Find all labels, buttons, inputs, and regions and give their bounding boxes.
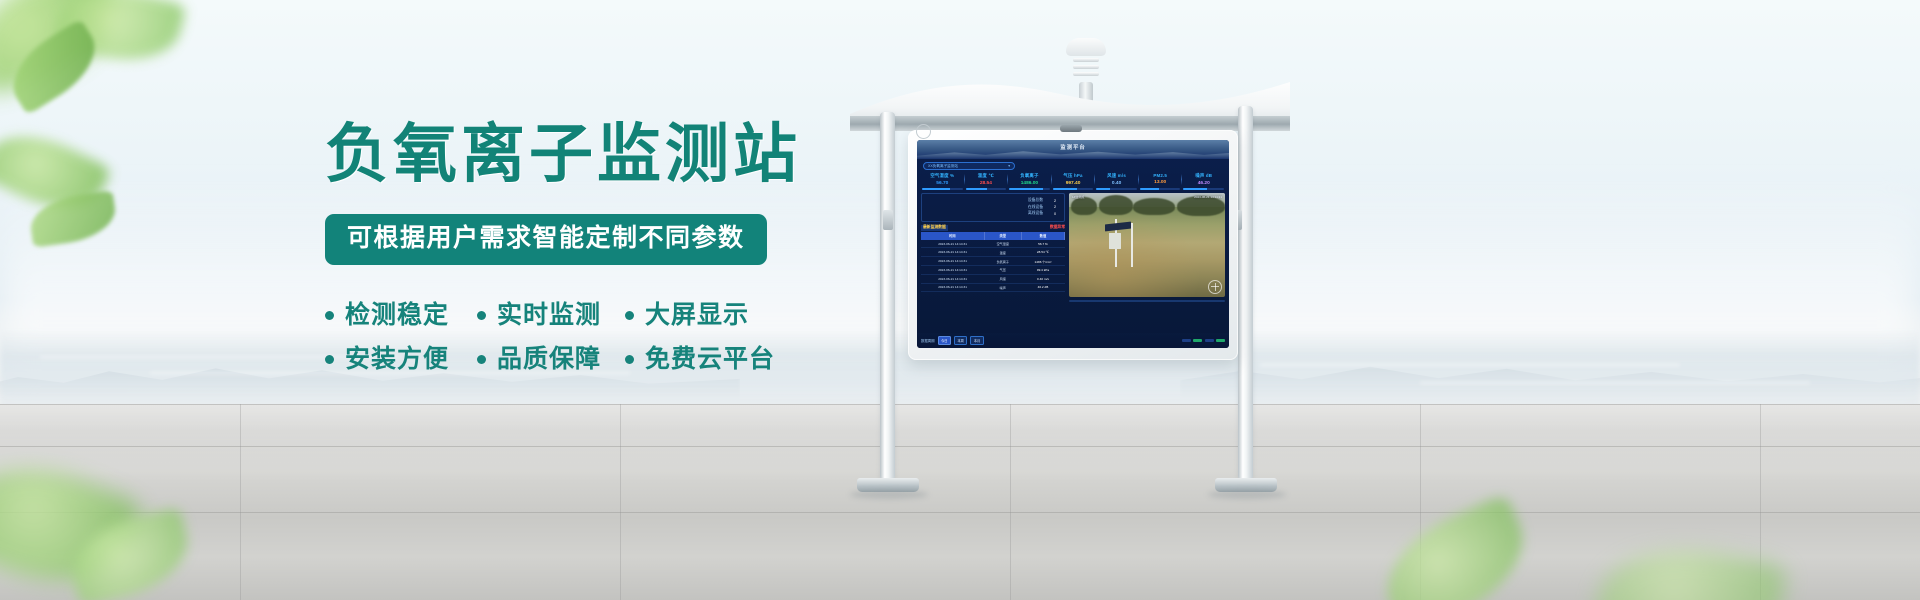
- support-post-right: [1238, 106, 1253, 480]
- log-table-columns: 时间类型数值: [921, 232, 1065, 240]
- bullet-dot-icon: [325, 311, 334, 320]
- bullet-dot-icon: [625, 355, 634, 364]
- table-cell: 噪声: [984, 283, 1021, 292]
- metric-value: 0.40: [1095, 181, 1138, 186]
- metric-card: 风速 m/s0.40: [1095, 173, 1138, 186]
- metric-label: PM2.5: [1139, 173, 1182, 178]
- dashboard-header: 监测平台: [917, 140, 1229, 159]
- table-row[interactable]: 2023-06-21 14:14:31负氧离子1486 个/cm³: [921, 257, 1065, 266]
- metric-progress-bar: [1053, 188, 1094, 190]
- table-cell: 2023-06-21 14:14:31: [921, 266, 984, 275]
- log-table-title: 最新监测数据: [921, 225, 948, 231]
- device-stat-value: 2: [1051, 205, 1059, 209]
- log-table-header-row: 最新监测数据 数据异常: [921, 225, 1065, 231]
- table-cell: 负氧离子: [984, 257, 1021, 266]
- table-row[interactable]: 2023-06-21 14:14:31温度28.54 ℃: [921, 248, 1065, 257]
- device-stat-value: 0: [1051, 212, 1059, 216]
- metric-card: 温度 ℃28.54: [965, 173, 1008, 186]
- log-table-alert-badge: 数据异常: [1050, 225, 1065, 230]
- metric-card: 空气湿度 %56.70: [921, 173, 964, 186]
- table-cell: 气压: [984, 266, 1021, 275]
- subtitle-badge: 可根据用户需求智能定制不同参数: [325, 214, 767, 265]
- metric-label: 空气湿度 %: [921, 173, 964, 179]
- dashboard-footer: 数据周期 今日 本周 本月: [917, 333, 1229, 348]
- station-selector-dropdown[interactable]: XX负氧离子监测站 ▾: [923, 162, 1015, 170]
- metric-value: 997.40: [1052, 181, 1095, 186]
- camera-tree-3: [1133, 198, 1175, 215]
- device-stat-row: 在线设备2: [927, 205, 1059, 210]
- post-bracket-left: [883, 210, 893, 230]
- metric-card: 负氧离子1486.00: [1008, 173, 1051, 186]
- device-stat-label: 在线设备: [1028, 205, 1043, 210]
- feature-label: 检测稳定: [345, 301, 449, 329]
- feature-item-quality-guarantee: 品质保障: [477, 345, 625, 373]
- sensor-ring-2: [1073, 65, 1099, 69]
- camera-solar-panel: [1105, 221, 1131, 231]
- sensor-ring-1: [1073, 58, 1099, 62]
- metric-value: 28.54: [965, 181, 1008, 186]
- metric-progress-bar: [966, 188, 1007, 190]
- metric-label: 气压 hPa: [1052, 173, 1095, 179]
- metric-label: 负氧离子: [1008, 173, 1051, 179]
- device-stat-label: 离线设备: [1028, 211, 1043, 216]
- support-post-left: [880, 112, 895, 480]
- dashboard-title: 监测平台: [917, 143, 1229, 151]
- metric-label: 风速 m/s: [1095, 173, 1138, 179]
- camera-timestamp: 2023-06-21 14:14:31: [1194, 195, 1222, 199]
- dashboard-screen[interactable]: 监测平台 XX负氧离子监测站 ▾ 空气湿度 %56.70温度 ℃28.54负氧离…: [917, 140, 1229, 348]
- chevron-down-icon: ▾: [1008, 164, 1010, 168]
- table-cell: 空气湿度: [984, 240, 1021, 248]
- metric-progress-bar: [1009, 188, 1050, 190]
- pavement-seam-v2: [620, 404, 621, 600]
- table-cell: 0.40 m/s: [1021, 274, 1064, 283]
- table-cell: 温度: [984, 248, 1021, 257]
- footer-status-bars: [1182, 339, 1226, 342]
- feature-item-detection-stable: 检测稳定: [325, 301, 477, 329]
- feature-list: 检测稳定 实时监测 大屏显示 安装方便 品质保障: [325, 301, 865, 373]
- metric-label: 噪声 dB: [1182, 173, 1225, 179]
- status-bar-4: [1216, 339, 1225, 342]
- log-table-column-header: 数值: [1021, 232, 1064, 240]
- table-cell: 99.4 kPa: [1021, 266, 1064, 275]
- table-cell: 56.7 %: [1021, 240, 1064, 248]
- table-cell: 1486 个/cm³: [1021, 257, 1064, 266]
- feature-item-large-screen: 大屏显示: [625, 301, 749, 329]
- metric-value: 1486.00: [1008, 181, 1051, 186]
- table-row[interactable]: 2023-06-21 14:14:31风速0.40 m/s: [921, 274, 1065, 283]
- metric-progress-bar: [1096, 188, 1137, 190]
- log-table[interactable]: 时间类型数值 2023-06-21 14:14:31空气湿度56.7 %2023…: [921, 232, 1065, 292]
- camera-station-cabinet: [1109, 233, 1121, 249]
- device-stat-label: 设备总数: [1028, 198, 1043, 203]
- metric-value: 13.00: [1139, 180, 1182, 185]
- status-bar-3: [1205, 339, 1214, 342]
- log-table-column-header: 时间: [921, 232, 984, 240]
- camera-location-tag: 1#监测点: [1072, 195, 1084, 199]
- table-cell: 2023-06-21 14:14:31: [921, 248, 984, 257]
- table-cell: 2023-06-21 14:14:31: [921, 283, 984, 292]
- frame-top-latch: [1060, 125, 1082, 132]
- dashboard-body: 设备总数2在线设备2离线设备0 最新监测数据 数据异常 时间类型数值 2023-…: [917, 190, 1229, 302]
- table-cell: 2023-06-21 14:14:31: [921, 240, 984, 248]
- frame-hook-icon: [916, 124, 931, 139]
- feature-item-easy-install: 安装方便: [325, 345, 477, 373]
- feature-row-2: 安装方便 品质保障 免费云平台: [325, 345, 865, 373]
- feature-item-realtime-monitor: 实时监测: [477, 301, 625, 329]
- camera-tree-2: [1099, 195, 1133, 215]
- sensor-ring-3: [1073, 72, 1099, 76]
- sensor-cup: [1066, 38, 1106, 56]
- camera-feed-panel[interactable]: 1#监测点 2023-06-21 14:14:31: [1069, 193, 1225, 297]
- metric-progress-bar: [922, 188, 963, 190]
- ground-shadow-left: [850, 490, 928, 499]
- bullet-dot-icon: [477, 311, 486, 320]
- feature-label: 品质保障: [497, 345, 601, 373]
- status-bar-1: [1182, 339, 1191, 342]
- bullet-dot-icon: [325, 355, 334, 364]
- metric-label: 温度 ℃: [965, 173, 1008, 179]
- footer-label: 数据周期: [921, 338, 935, 343]
- footer-chip-today[interactable]: 今日: [938, 336, 951, 345]
- trend-chart-panel[interactable]: i: [1069, 300, 1225, 302]
- water-highlight-4: [1420, 382, 1810, 384]
- device-stat-row: 设备总数2: [927, 198, 1059, 203]
- metric-card: PM2.513.00: [1139, 173, 1182, 186]
- page-title: 负氧离子监测站: [325, 118, 865, 190]
- feature-row-1: 检测稳定 实时监测 大屏显示: [325, 301, 865, 329]
- table-cell: 2023-06-21 14:14:31: [921, 257, 984, 266]
- metric-progress-bar: [1183, 188, 1224, 190]
- metric-value: 56.70: [921, 181, 964, 186]
- footer-chip-month[interactable]: 本月: [970, 336, 983, 345]
- bullet-dot-icon: [477, 355, 486, 364]
- monitoring-station-kiosk: 监测平台 XX负氧离子监测站 ▾ 空气湿度 %56.70温度 ℃28.54负氧离…: [830, 20, 1330, 530]
- promo-banner: 负氧离子监测站 可根据用户需求智能定制不同参数 检测稳定 实时监测 大屏显示: [0, 0, 1920, 600]
- feature-label: 大屏显示: [645, 301, 749, 329]
- dashboard-left-column: 设备总数2在线设备2离线设备0 最新监测数据 数据异常 时间类型数值 2023-…: [921, 193, 1065, 302]
- status-bar-2: [1193, 339, 1202, 342]
- lcd-screen-frame: 监测平台 XX负氧离子监测站 ▾ 空气湿度 %56.70温度 ℃28.54负氧离…: [908, 130, 1238, 360]
- metric-card-row: 空气湿度 %56.70温度 ℃28.54负氧离子1486.00气压 hPa997…: [917, 172, 1229, 186]
- station-selector-value: XX负氧离子监测站: [928, 164, 958, 169]
- banner-text-block: 负氧离子监测站 可根据用户需求智能定制不同参数 检测稳定 实时监测 大屏显示: [325, 118, 865, 389]
- ground-shadow-right: [1208, 490, 1286, 499]
- metric-value: 46.20: [1182, 181, 1225, 186]
- table-cell: 风速: [984, 274, 1021, 283]
- log-table-column-header: 类型: [984, 232, 1021, 240]
- camera-tree-1: [1071, 197, 1097, 215]
- device-stats-box: 设备总数2在线设备2离线设备0: [921, 193, 1065, 222]
- table-row[interactable]: 2023-06-21 14:14:31噪声46.2 dB: [921, 283, 1065, 292]
- metric-card: 气压 hPa997.40: [1052, 173, 1095, 186]
- device-stat-row: 离线设备0: [927, 211, 1059, 216]
- pavement-seam-v1: [240, 404, 241, 600]
- table-cell: 2023-06-21 14:14:31: [921, 274, 984, 283]
- footer-chip-week[interactable]: 本周: [954, 336, 967, 345]
- metric-progress-bar: [1140, 188, 1181, 190]
- metric-card: 噪声 dB46.20: [1182, 173, 1225, 186]
- feature-item-free-cloud: 免费云平台: [625, 345, 775, 373]
- table-row[interactable]: 2023-06-21 14:14:31空气湿度56.7 %: [921, 240, 1065, 248]
- table-cell: 46.2 dB: [1021, 283, 1064, 292]
- weather-sensor-icon: [1066, 38, 1106, 100]
- dashboard-right-column: 1#监测点 2023-06-21 14:14:31 i: [1069, 193, 1225, 302]
- bullet-dot-icon: [625, 311, 634, 320]
- camera-ptz-control[interactable]: [1208, 280, 1222, 294]
- table-cell: 28.54 ℃: [1021, 248, 1064, 257]
- table-row[interactable]: 2023-06-21 14:14:31气压99.4 kPa: [921, 266, 1065, 275]
- device-stat-value: 2: [1051, 199, 1059, 203]
- feature-label: 实时监测: [497, 301, 601, 329]
- camera-station-mast-2: [1131, 223, 1133, 267]
- feature-label: 免费云平台: [645, 345, 775, 373]
- feature-label: 安装方便: [345, 345, 449, 373]
